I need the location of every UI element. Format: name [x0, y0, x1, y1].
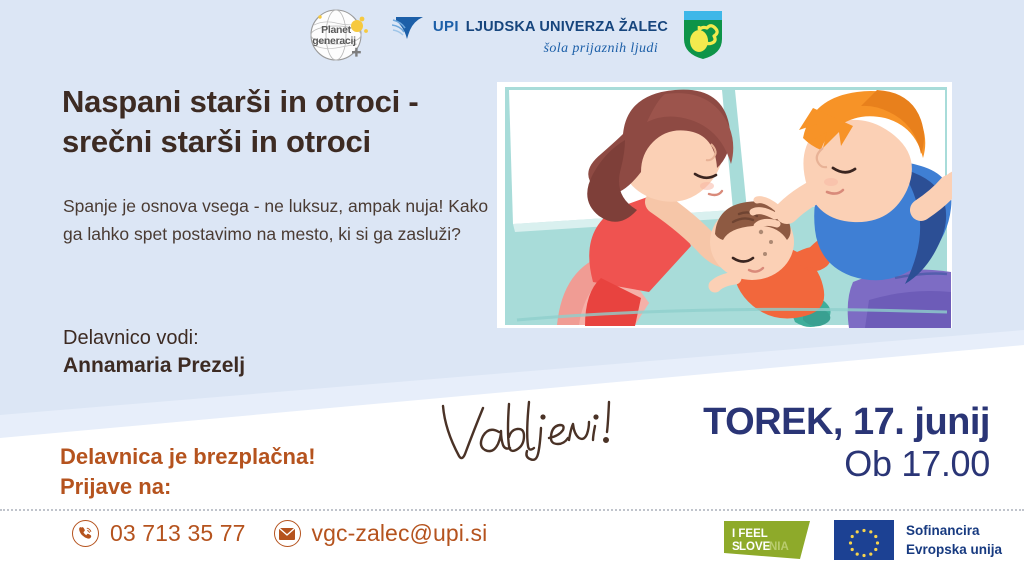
leader-name: Annamaria Prezelj	[63, 352, 463, 380]
headline-line-2: srečni starši in otroci	[62, 122, 482, 162]
signup-info: Delavnica je brezplačna! Prijave na:	[60, 442, 316, 503]
leader-label: Delavnico vodi:	[63, 325, 463, 352]
page-title: Naspani starši in otroci - srečni starši…	[62, 82, 482, 161]
svg-text:generacij: generacij	[312, 35, 356, 47]
eu-flag	[834, 520, 894, 560]
email-address: vgc-zalec@upi.si	[312, 520, 488, 547]
contact-email[interactable]: vgc-zalec@upi.si	[274, 520, 488, 547]
headline-line-1: Naspani starši in otroci -	[62, 82, 482, 122]
header-logo-row: Planet generacij UPI LJUDSKA UNIVERZA ŽA…	[0, 6, 1024, 64]
zalec-coat-of-arms	[682, 9, 724, 61]
free-workshop-note: Delavnica je brezplačna!	[60, 442, 316, 472]
svg-text:NIA: NIA	[769, 541, 789, 553]
i-feel-slovenia-logo: I FEEL S LOVE NIA	[722, 519, 818, 561]
dotted-divider	[0, 509, 1024, 511]
workshop-leader: Delavnico vodi: Annamaria Prezelj	[63, 325, 463, 380]
description-text: Spanje je osnova vsega - ne luksuz, ampa…	[63, 193, 503, 248]
contact-phone[interactable]: 03 713 35 77	[72, 520, 246, 547]
planet-generacij-logo: Planet generacij	[300, 7, 378, 63]
svg-text:I FEEL: I FEEL	[732, 528, 768, 540]
svg-text:LOVE: LOVE	[739, 541, 771, 553]
eu-text-line-1: Sofinancira	[906, 523, 980, 538]
contact-list: 03 713 35 77 vgc-zalec@upi.si	[72, 520, 487, 547]
apply-label: Prijave na:	[60, 472, 316, 502]
event-datetime: TOREK, 17. junij Ob 17.00	[703, 403, 990, 485]
event-time: Ob 17.00	[703, 443, 990, 485]
envelope-icon	[274, 520, 301, 547]
eu-text-line-2: Evropska unija	[906, 542, 1002, 557]
upi-logo: UPI LJUDSKA UNIVERZA ŽALEC šola prijazni…	[392, 14, 668, 57]
upi-slogan: šola prijaznih ljudi	[544, 41, 659, 57]
event-date: TOREK, 17. junij	[703, 403, 990, 443]
eu-cofunding-logo: Sofinancira Evropska unija	[834, 520, 1002, 560]
phone-number: 03 713 35 77	[110, 520, 246, 547]
phone-icon	[72, 520, 99, 547]
poster-canvas: Planet generacij UPI LJUDSKA UNIVERZA ŽA…	[0, 0, 1024, 576]
upi-abbreviation: UPI	[433, 18, 459, 35]
upi-full-name: LJUDSKA UNIVERZA ŽALEC	[466, 19, 668, 35]
footer-logo-row: I FEEL S LOVE NIA	[722, 519, 1002, 561]
sleeping-family-illustration	[497, 82, 952, 328]
eu-cofunding-text: Sofinancira Evropska unija	[906, 521, 1002, 559]
upi-bird-mark	[392, 14, 426, 40]
invitation-script-text	[437, 398, 617, 464]
